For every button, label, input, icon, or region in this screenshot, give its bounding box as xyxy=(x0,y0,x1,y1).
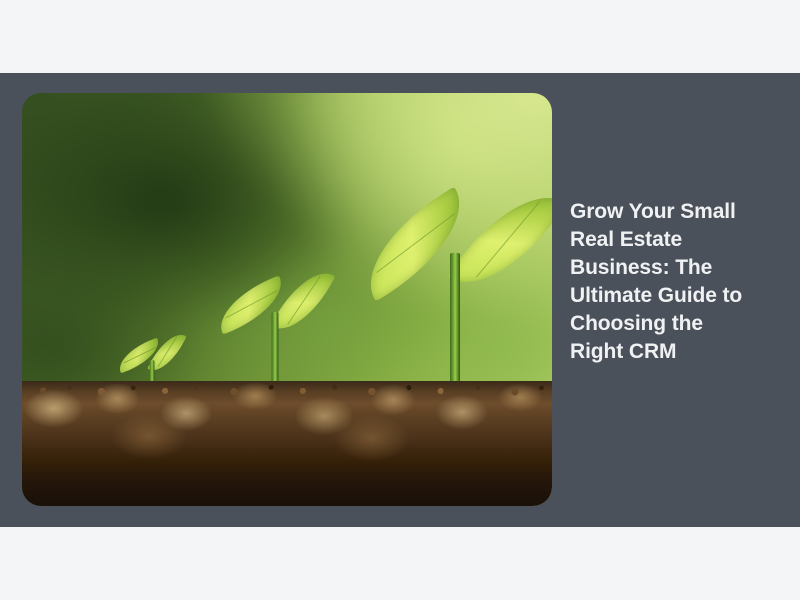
soil-bed xyxy=(22,381,552,506)
leaf-vein xyxy=(476,201,540,277)
hero-content: Grow Your Small Real Estate Business: Th… xyxy=(22,93,778,506)
leaf-vein xyxy=(376,213,455,273)
leaf-vein xyxy=(157,336,177,367)
hero-banner: Grow Your Small Real Estate Business: Th… xyxy=(0,73,800,527)
large-seedling xyxy=(340,101,552,401)
leaf-icon xyxy=(448,172,552,309)
medium-seedling xyxy=(210,214,340,394)
seedlings-photo xyxy=(22,93,552,506)
hero-image-card xyxy=(22,93,552,506)
soil-surface-texture xyxy=(22,375,552,397)
leaf-vein xyxy=(226,291,278,319)
page-title: Grow Your Small Real Estate Business: Th… xyxy=(570,198,760,366)
leaf-icon xyxy=(346,187,484,302)
leaf-vein xyxy=(287,276,320,325)
page-root: Grow Your Small Real Estate Business: Th… xyxy=(0,0,800,600)
leaf-icon xyxy=(271,260,336,341)
